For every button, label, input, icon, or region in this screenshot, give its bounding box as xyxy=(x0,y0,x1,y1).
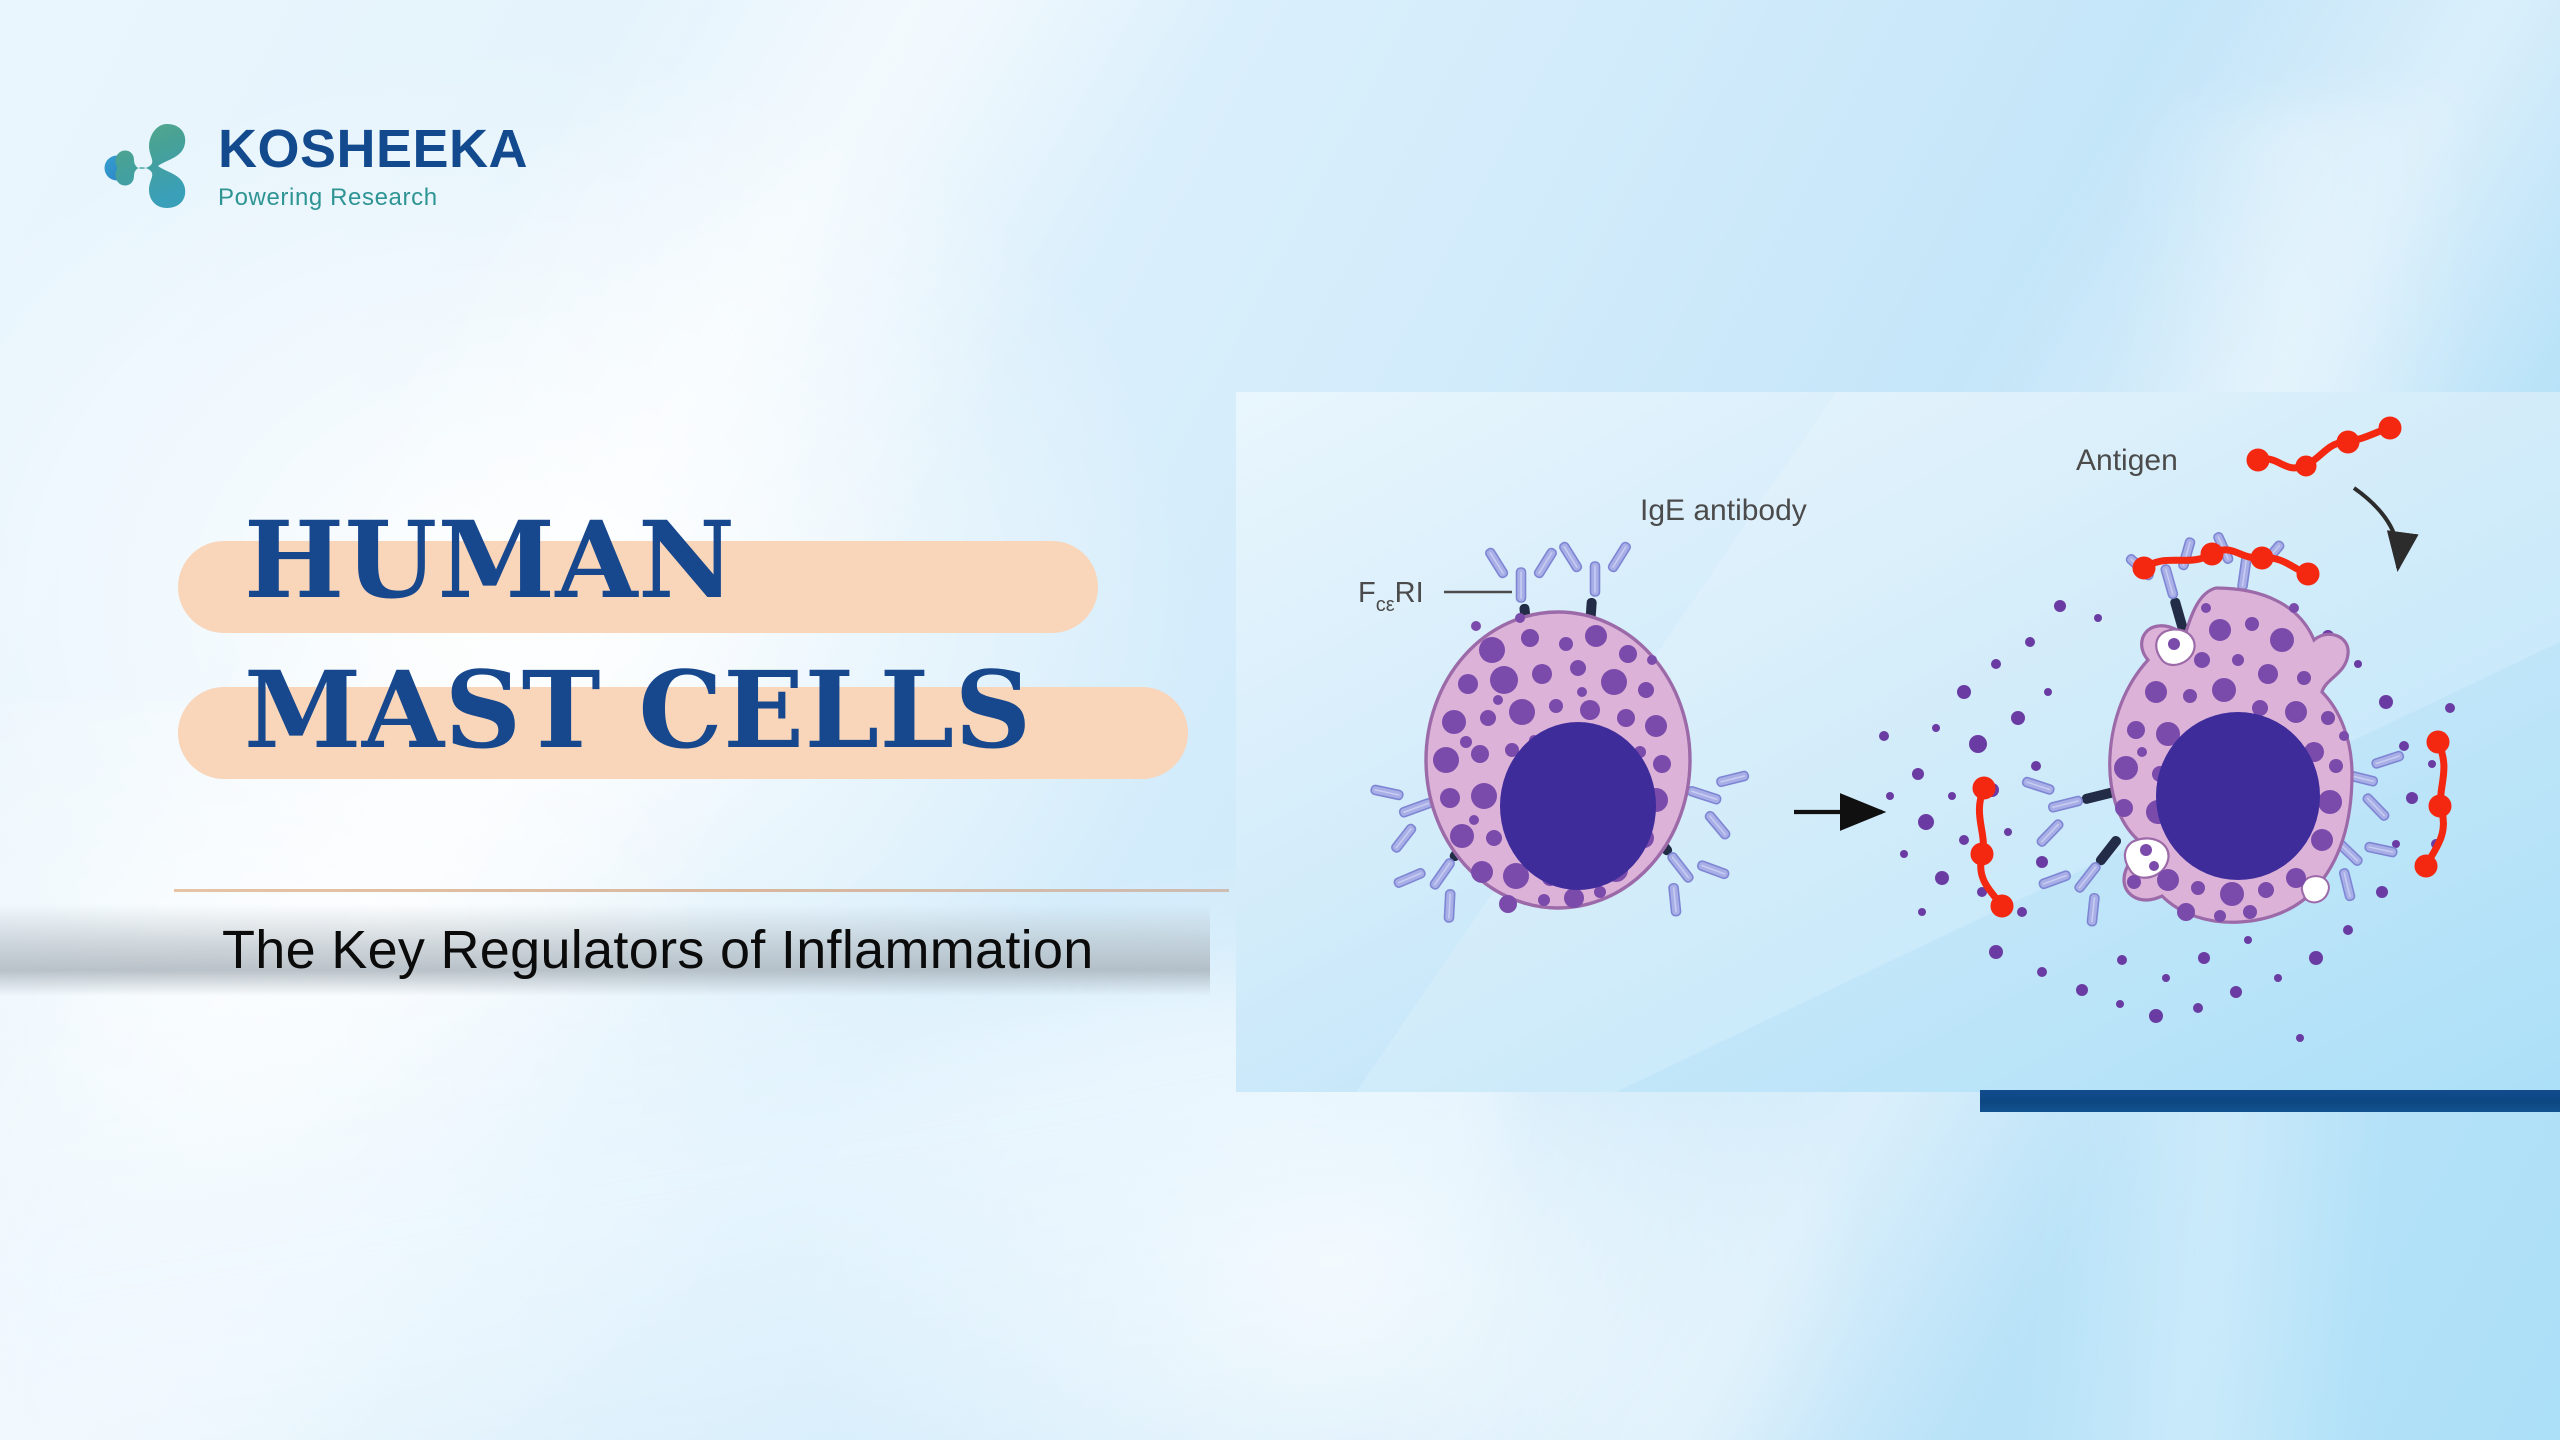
brand-logo[interactable]: KOSHEEKA Powering Research xyxy=(104,118,528,214)
antigen-label: Antigen xyxy=(2076,444,2178,477)
bottom-accent-bar xyxy=(1980,1090,2560,1112)
mast-cell-diagram: FcεRI IgE antibody xyxy=(1236,392,2560,1092)
background-glow-left xyxy=(0,700,780,1440)
receptor-label-tail: RI xyxy=(1395,577,1424,609)
nucleus-activated xyxy=(2156,712,2320,880)
receptor-label-sub: cε xyxy=(1376,594,1395,616)
brand-name: KOSHEEKA xyxy=(218,122,528,176)
title-line-2: MAST CELLS xyxy=(184,661,1284,781)
title-line-1-text: HUMAN xyxy=(244,507,736,613)
slide-canvas: KOSHEEKA Powering Research HUMAN MAST CE… xyxy=(0,0,2560,1440)
receptor-label-main: F xyxy=(1358,577,1376,609)
page-title: HUMAN MAST CELLS xyxy=(184,515,1284,781)
molecule-logo-icon xyxy=(104,118,196,214)
title-line-1: HUMAN xyxy=(184,515,1284,635)
page-subtitle: The Key Regulators of Inflammation xyxy=(222,919,1094,981)
title-line-2-text: MAST CELLS xyxy=(244,657,1032,763)
brand-tagline: Powering Research xyxy=(218,186,528,210)
nucleus-resting xyxy=(1500,722,1656,890)
antibody-label: IgE antibody xyxy=(1640,494,1807,527)
title-divider xyxy=(174,889,1229,892)
